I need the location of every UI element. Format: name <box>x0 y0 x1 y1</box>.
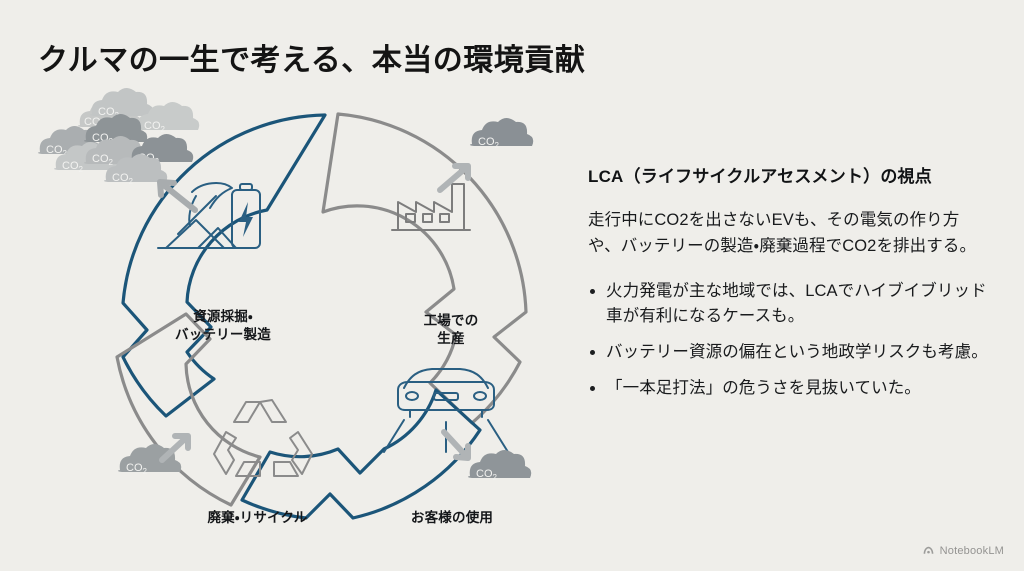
slide-canvas: クルマの一生で考える、本当の環境貢献 <box>0 0 1024 571</box>
notebooklm-logo-icon <box>922 544 935 557</box>
lca-bullet-list: 火力発電が主な地域では、LCAでハイブイブリッド車が有利になるケースも。 バッテ… <box>588 279 992 401</box>
lca-heading: LCA（ライフサイクルアセスメント）の視点 <box>588 165 992 189</box>
segment-factory[interactable] <box>323 114 526 423</box>
list-item: 火力発電が主な地域では、LCAでハイブイブリッド車が有利になるケースも。 <box>588 279 992 330</box>
factory-icon <box>392 184 470 230</box>
list-item: バッテリー資源の偏在という地政学リスクも考慮。 <box>588 340 992 366</box>
watermark-label: NotebookLM <box>940 545 1004 557</box>
emission-arrow-icon <box>444 432 468 458</box>
list-item: 「一本足打法」の危うさを見抜いていた。 <box>588 376 992 402</box>
bullet-dot-icon <box>590 289 595 294</box>
bullet-dot-icon <box>590 386 595 391</box>
lca-paragraph: 走行中にCO2を出さないEVも、その電気の作り方や、バッテリーの製造・廃棄過程で… <box>588 207 992 259</box>
list-item-text: 火力発電が主な地域では、LCAでハイブイブリッド車が有利になるケースも。 <box>606 282 987 326</box>
co2-cloud-cluster: CO2 CO2 CO2 CO2 CO2 <box>38 88 199 210</box>
battery-icon <box>232 184 260 248</box>
bullet-dot-icon <box>590 350 595 355</box>
notebooklm-watermark: NotebookLM <box>922 544 1004 557</box>
co2-cloud: CO2 <box>440 118 533 190</box>
lifecycle-diagram: CO2 CO2 CO2 CO2 CO2 <box>20 80 580 550</box>
list-item-text: 「一本足打法」の危うさを見抜いていた。 <box>606 379 921 397</box>
list-item-text: バッテリー資源の偏在という地政学リスクも考慮。 <box>606 343 988 361</box>
co2-cloud: CO2 <box>444 432 531 482</box>
lifecycle-svg: CO2 CO2 CO2 CO2 CO2 <box>20 80 580 550</box>
page-title: クルマの一生で考える、本当の環境貢献 <box>38 42 938 80</box>
lca-panel: LCA（ライフサイクルアセスメント）の視点 走行中にCO2を出さないEVも、その… <box>588 165 992 411</box>
